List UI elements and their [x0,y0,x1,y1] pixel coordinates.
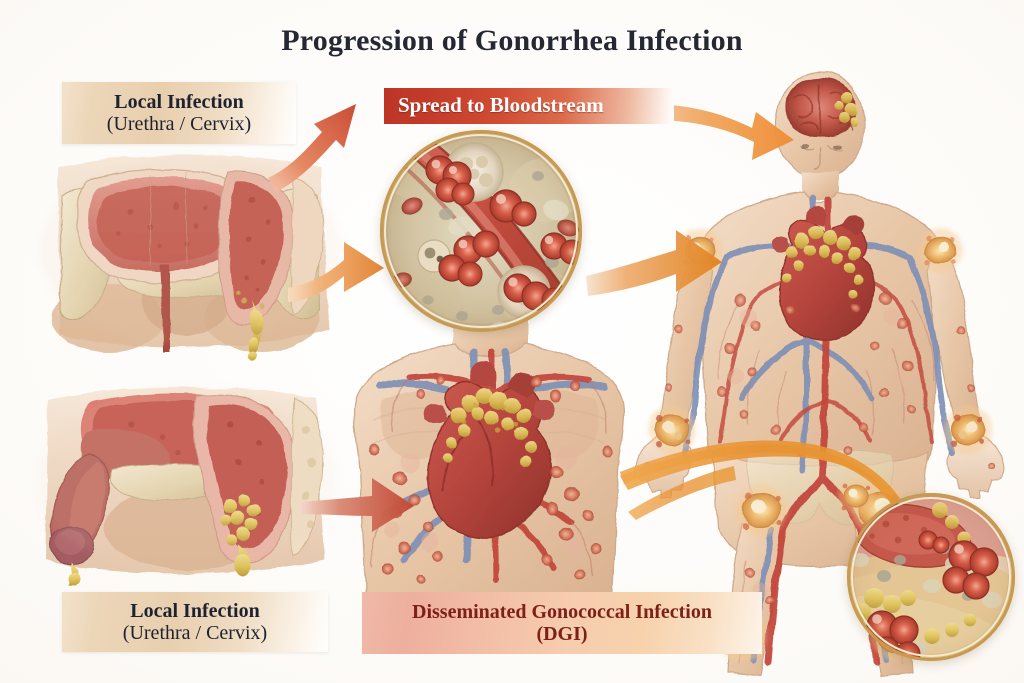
satellite-joint-lesion [838,478,874,514]
banner-dgi-line1: Disseminated Gonococcal Infection [412,601,712,623]
banner-spread-to-bloodstream: Spread to Bloodstream [384,88,674,124]
banner-spread-to-bloodstream-line1: Spread to Bloodstream [398,94,604,118]
arrow-torso-to-joint-inset [620,440,906,516]
banner-dgi-line2: (DGI) [536,623,587,645]
arrow-male-to-torso [300,478,414,532]
panel-torso-heart [354,318,624,600]
label-local-infection-bottom-line2: (Urethra / Cervix) [123,622,267,644]
panel-male-pelvis [36,385,336,584]
joint-lesion-inset-ring [847,493,1015,661]
arrow-local-to-vessel [288,242,384,302]
bloodstream-inset-ring [380,130,582,332]
figure-canvas: Progression of Gonorrhea Infection Local… [0,0,1024,683]
panel-female-pelvis [40,155,340,361]
arrow-vessel-to-body [586,230,722,296]
label-local-infection-top-line1: Local Infection [114,91,243,113]
label-local-infection-top-line2: (Urethra / Cervix) [107,113,251,135]
page-title: Progression of Gonorrhea Infection [0,24,1024,58]
arrow-ribbon-left-hand [628,466,736,520]
label-local-infection-bottom-line1: Local Infection [130,600,259,622]
label-local-infection-bottom: Local Infection (Urethra / Cervix) [62,592,328,652]
banner-dgi: Disseminated Gonococcal Infection (DGI) [362,592,762,654]
label-local-infection-top: Local Infection (Urethra / Cervix) [62,82,296,144]
